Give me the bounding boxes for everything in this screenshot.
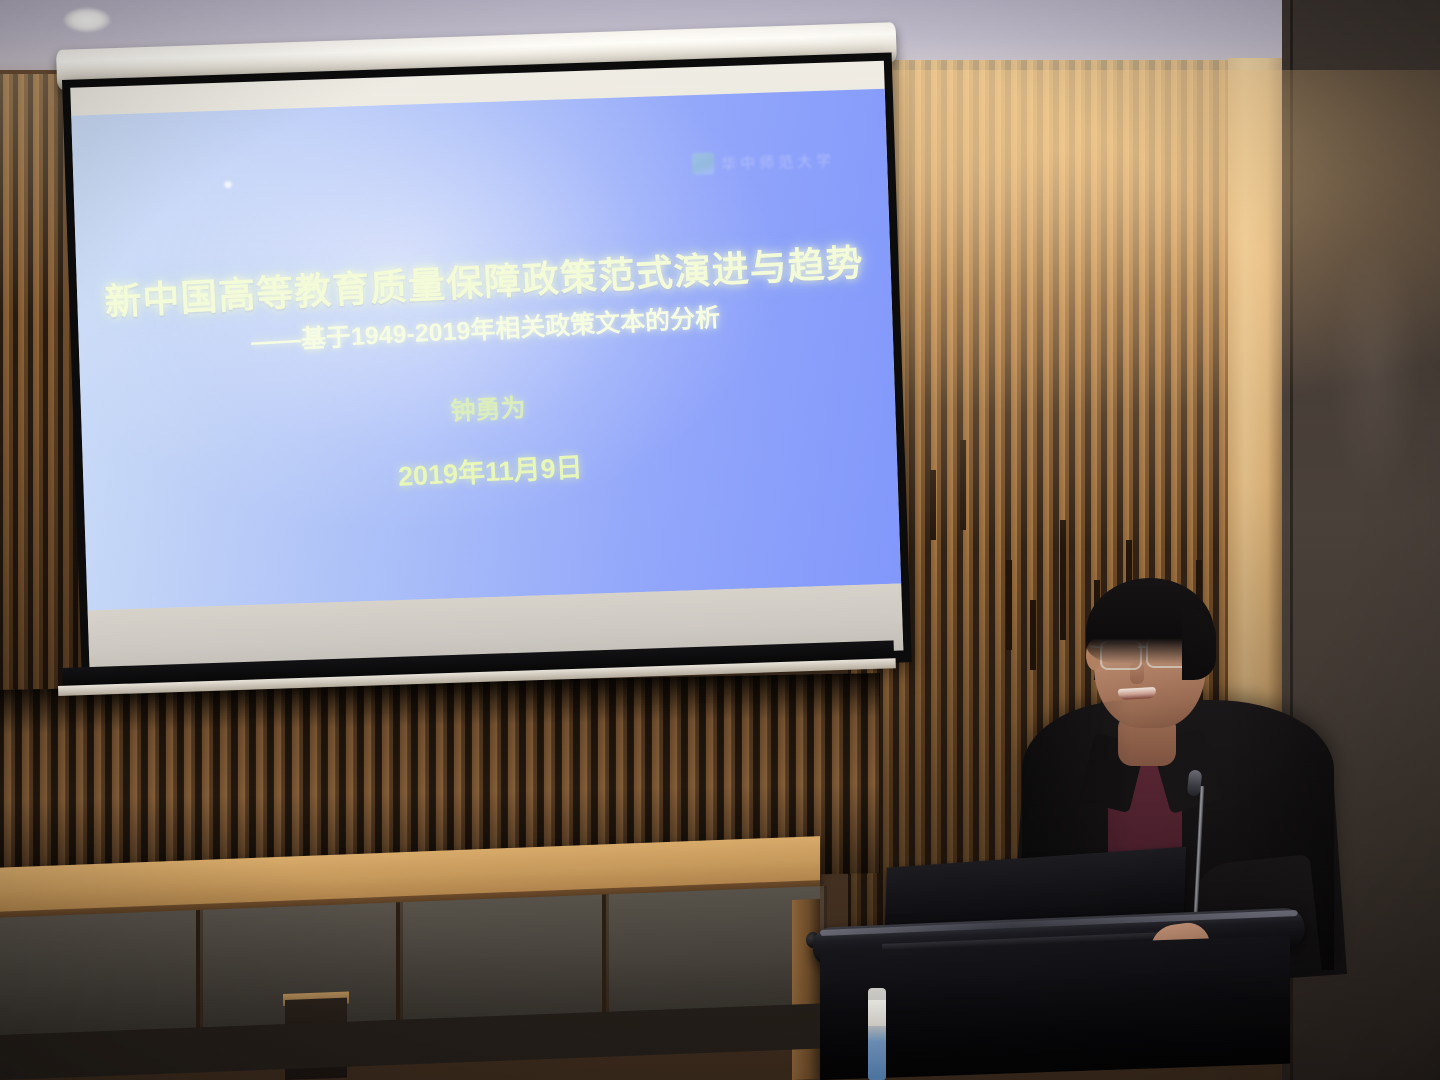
slide-watermark: 华中师范大学 (692, 148, 836, 175)
slide-watermark-text: 华中师范大学 (721, 149, 836, 174)
projector-hotspot (223, 180, 232, 188)
slat-notch (1030, 600, 1036, 670)
water-bottle-label (868, 1000, 886, 1026)
projection-screen-surface: 华中师范大学 新中国高等教育质量保障政策范式演进与趋势 ——基于1949-201… (70, 61, 903, 678)
ceiling-downlight-icon (64, 8, 110, 32)
slat-notch (1006, 560, 1012, 650)
cabinet-corner (792, 899, 820, 1080)
dark-wall-highlight (1330, 240, 1420, 500)
presentation-slide: 华中师范大学 新中国高等教育质量保障政策范式演进与趋势 ——基于1949-201… (71, 89, 901, 611)
speaker-mouth (1118, 687, 1157, 700)
slat-notch (1060, 520, 1066, 640)
slat-notch (930, 470, 936, 540)
slide-date: 2019年11月9日 (83, 429, 898, 511)
photo-scene: 华中师范大学 新中国高等教育质量保障政策范式演进与趋势 ——基于1949-201… (0, 0, 1440, 1080)
podium-shading (820, 964, 1290, 1080)
projection-screen[interactable]: 华中师范大学 新中国高等教育质量保障政策范式演进与趋势 ——基于1949-201… (62, 52, 912, 689)
slat-notch (960, 440, 966, 530)
university-logo-icon (692, 152, 715, 175)
